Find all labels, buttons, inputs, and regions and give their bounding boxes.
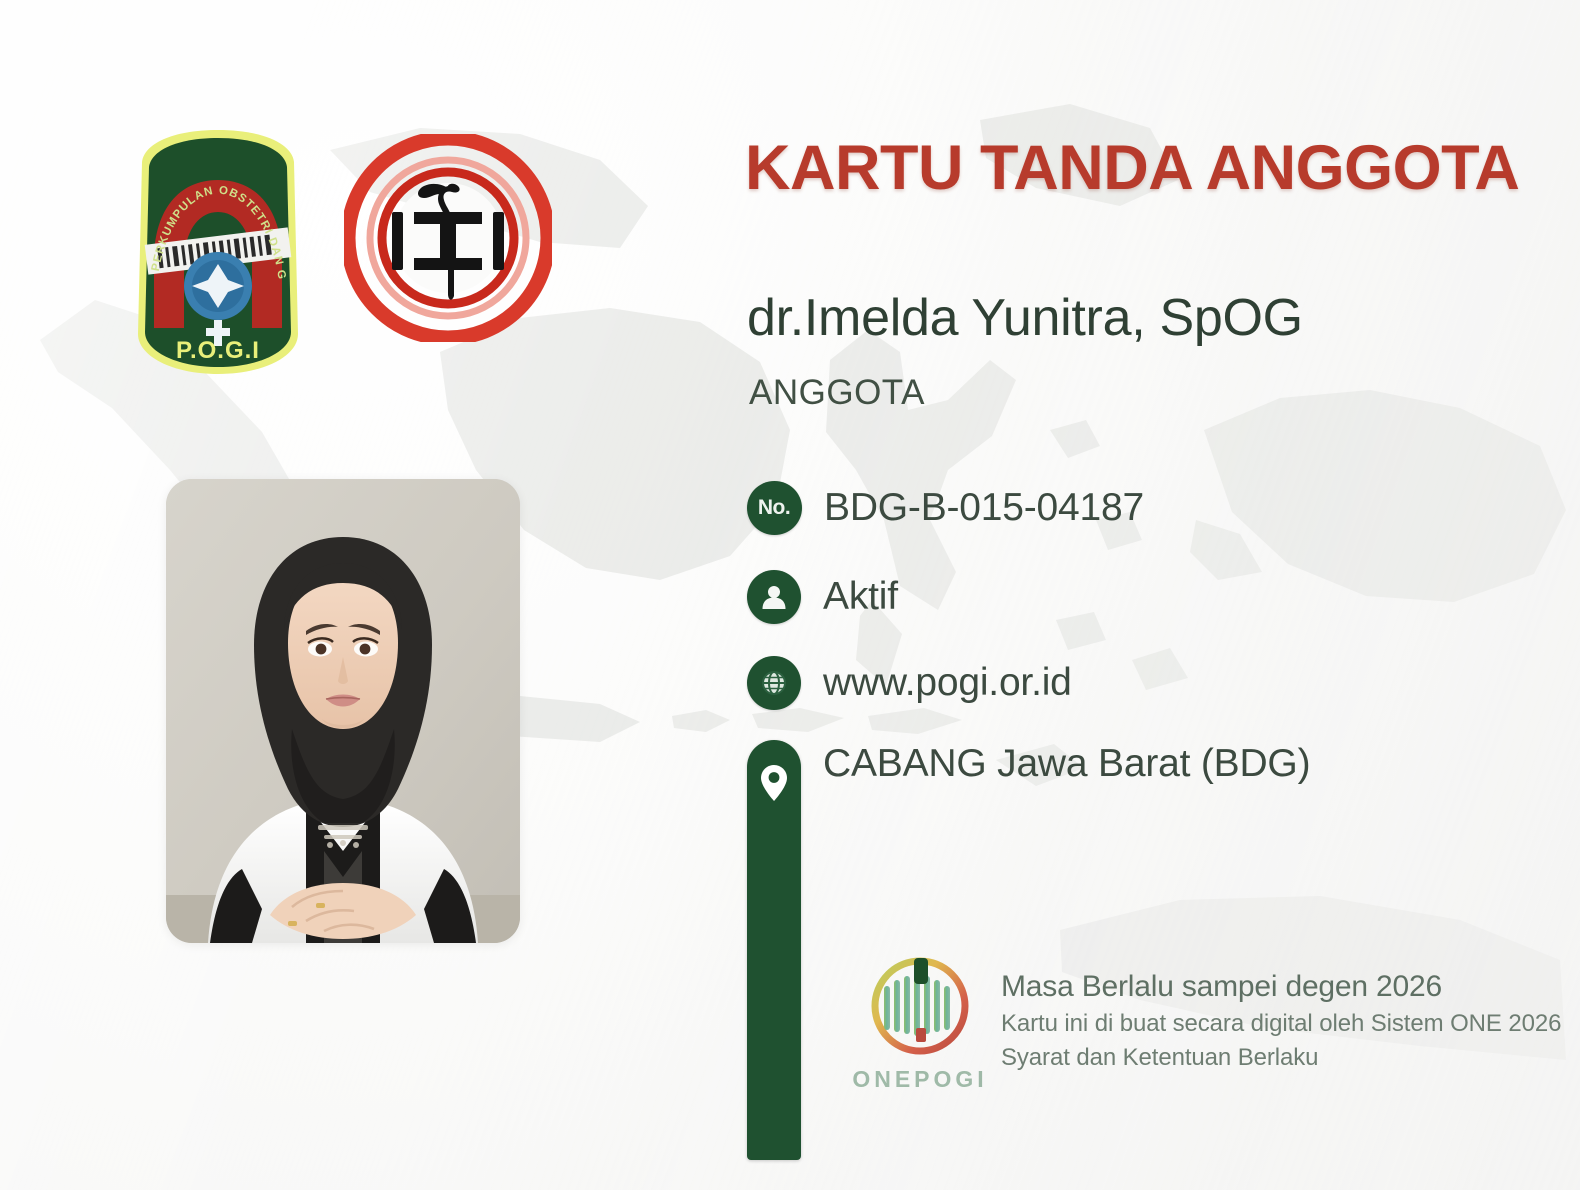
- membership-number-value: BDG-B-015-04187: [824, 486, 1144, 530]
- person-icon: [747, 570, 801, 624]
- location-pin-icon: [747, 740, 801, 1160]
- validity-text: Masa Berlalu sampei degen 2026: [1001, 970, 1561, 1004]
- status-value: Aktif: [823, 575, 898, 619]
- info-row-status: Aktif: [747, 570, 898, 624]
- member-id-card: P.O.G.I PERKUMPULAN OBSTETRI DAN GINEKOL…: [0, 0, 1580, 1190]
- info-row-website[interactable]: www.pogi.or.id: [747, 656, 1072, 710]
- info-row-membership-number: No. BDG-B-015-04187: [747, 481, 1144, 535]
- website-value[interactable]: www.pogi.or.id: [823, 661, 1072, 705]
- onepogi-logo: ONEPOGI: [845, 952, 995, 1093]
- number-badge-icon: No.: [747, 481, 802, 535]
- onepogi-label: ONEPOGI: [845, 1066, 995, 1093]
- member-name: dr.Imelda Yunitra, SpOG: [747, 288, 1303, 348]
- idi-logo: [344, 134, 552, 342]
- svg-text:P.O.G.I: P.O.G.I: [176, 337, 260, 364]
- footer-note-line-2: Syarat dan Ketentuan Berlaku: [1001, 1044, 1561, 1072]
- footer-text-block: Masa Berlalu sampei degen 2026 Kartu ini…: [1001, 952, 1561, 1072]
- card-footer: ONEPOGI Masa Berlalu sampei degen 2026 K…: [845, 952, 1561, 1093]
- branch-value: CABANG Jawa Barat (BDG): [823, 742, 1310, 786]
- footer-note-line-1: Kartu ini di buat secara digital oleh Si…: [1001, 1010, 1561, 1038]
- pogi-logo: P.O.G.I PERKUMPULAN OBSTETRI DAN GINEKOL…: [132, 128, 304, 378]
- member-role: ANGGOTA: [749, 373, 925, 413]
- member-photo: [166, 479, 520, 943]
- globe-icon: [747, 656, 801, 710]
- page-title: KARTU TANDA ANGGOTA: [745, 132, 1519, 204]
